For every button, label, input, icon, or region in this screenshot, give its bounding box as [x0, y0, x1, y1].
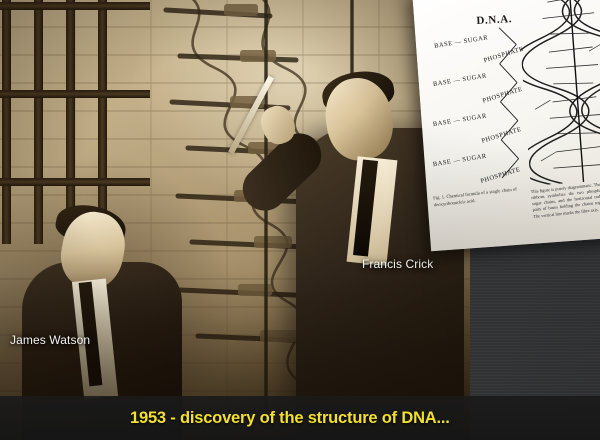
- slide-canvas: James Watson Francis Crick D.N.A. BASE —…: [0, 0, 600, 440]
- nature-paper-clipping: D.N.A. BASE — SUGAR PHOSPHATE BASE — SUG…: [412, 0, 600, 251]
- photo-vignette: [0, 0, 470, 440]
- caption-bar: 1953 - discovery of the structure of DNA…: [0, 396, 600, 440]
- historical-photo: James Watson Francis Crick: [0, 0, 470, 440]
- paper-shading: [412, 0, 600, 251]
- caption-text: 1953 - discovery of the structure of DNA…: [130, 409, 450, 428]
- label-james-watson: James Watson: [10, 333, 90, 347]
- label-francis-crick: Francis Crick: [362, 257, 433, 271]
